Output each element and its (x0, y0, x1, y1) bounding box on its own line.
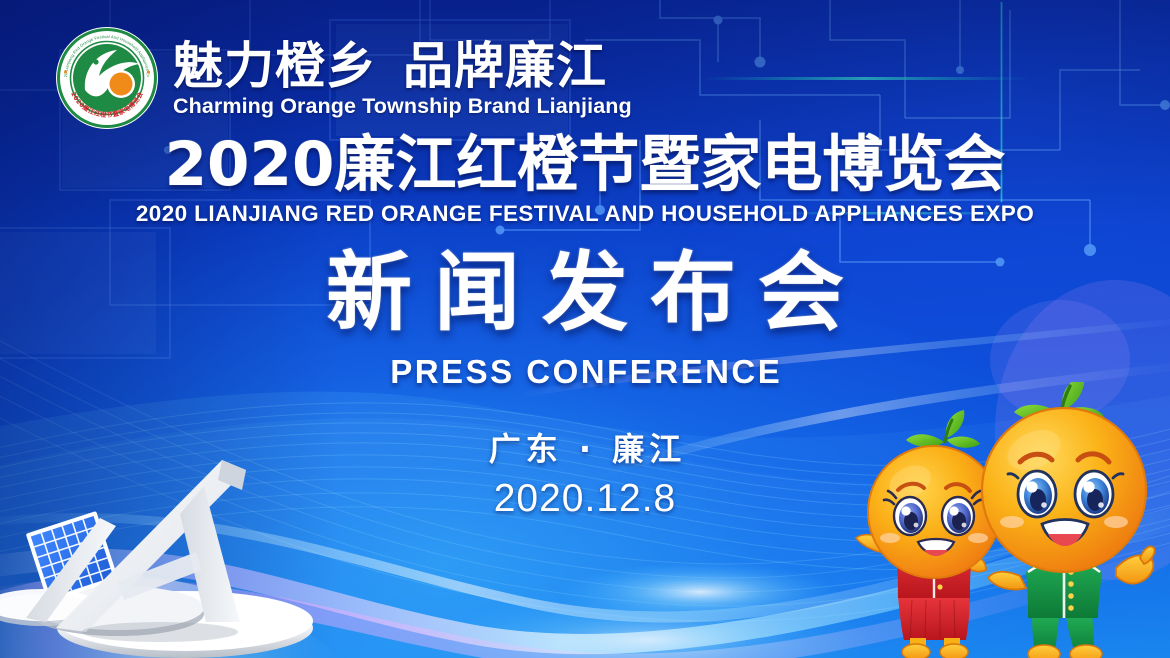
mascot-girl (856, 410, 1000, 658)
sculpture-icon (0, 432, 320, 658)
expo-title-chinese: 2020廉江红橙节暨家电博览会 (0, 133, 1170, 196)
slogan-block: 魅力橙乡品牌廉江 Charming Orange Township Brand … (173, 37, 632, 119)
festival-logo[interactable]: 2020 Lianjiang Red Orange Festival And H… (55, 26, 159, 130)
slogan-cn-right: 品牌廉江 (403, 37, 607, 95)
mascot-boy (982, 382, 1154, 658)
press-conference-banner: 2020 Lianjiang Red Orange Festival And H… (0, 0, 1170, 658)
white-architectural-sculpture (0, 432, 320, 658)
expo-title-block: 2020廉江红橙节暨家电博览会 2020 LIANJIANG RED ORANG… (0, 133, 1170, 227)
slogan-english: Charming Orange Township Brand Lianjiang (173, 94, 632, 119)
slogan-chinese: 魅力橙乡品牌廉江 (173, 41, 632, 92)
slogan-cn-left: 魅力橙乡 (173, 37, 377, 95)
header-lockup: 2020 Lianjiang Red Orange Festival And H… (55, 26, 632, 130)
orange-mascots-icon (854, 382, 1170, 658)
headline-chinese: 新闻发布会 (0, 248, 1170, 339)
orange-festival-emblem-icon: 2020 Lianjiang Red Orange Festival And H… (55, 26, 159, 130)
mascot-pair (854, 382, 1170, 658)
expo-title-english: 2020 LIANJIANG RED ORANGE FESTIVAL AND H… (0, 201, 1170, 227)
headline-block: 新闻发布会 PRESS CONFERENCE (0, 248, 1170, 391)
